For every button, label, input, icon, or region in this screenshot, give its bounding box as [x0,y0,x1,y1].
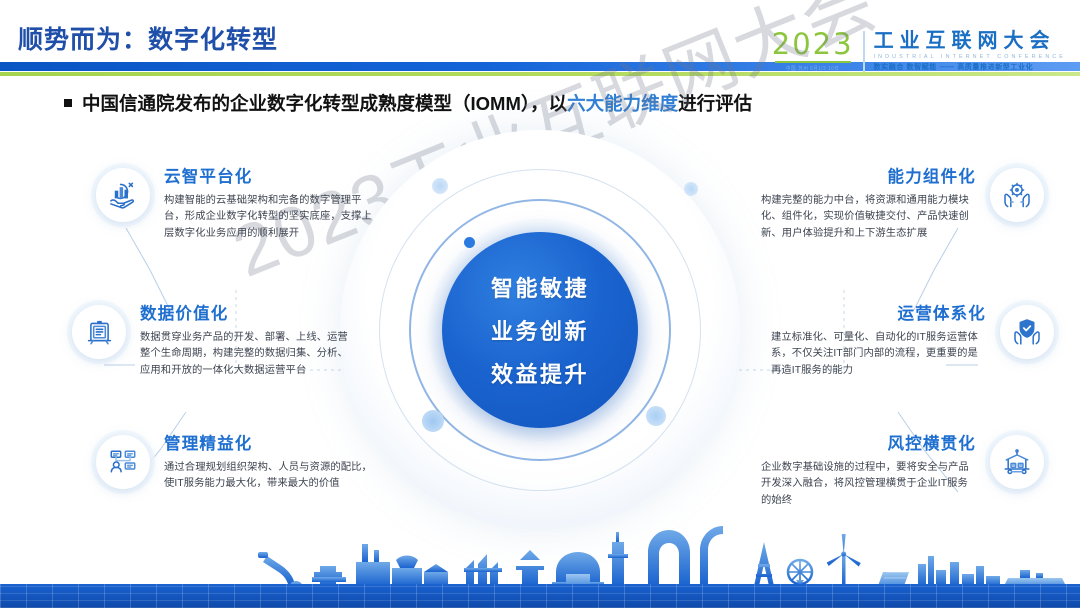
feature-description: 企业数字基础设施的过程中，要将安全与产品开发深入融合，将风控管理横贯于企业IT服… [761,460,976,510]
conference-logo: 2023 中国·苏州 8月1/2·10日 工业互联网大会 INDUSTRIAL … [772,28,1066,72]
orbit-dot-top [464,237,475,248]
bullet-text-part1: 中国信通院发布的企业数字化转型成熟度模型（IOMM），以 [82,93,567,114]
gear-in-hands-icon [990,168,1044,222]
feature-title: 数据价值化 [140,305,355,325]
cloud-chart-hand-icon [96,168,150,222]
header-rule-green [0,72,1080,76]
logo-text-block: 工业互联网大会 INDUSTRIAL INTERNET CONFERENCE 数… [874,28,1066,72]
feature-title: 管理精益化 [164,435,379,455]
feature-body: 能力组件化 构建完整的能力中台，将资源和通用能力模块化、组件化，实现价值敏捷交付… [761,168,976,243]
orbit-dot-top-left [432,178,448,194]
feature-body: 风控横贯化 企业数字基础设施的过程中，要将安全与产品开发深入融合，将风控管理横贯… [761,435,976,510]
core-line-3: 效益提升 [491,357,589,389]
core-line-1: 智能敏捷 [491,271,589,303]
diagram-stage: 2023工业互联网大会 智能敏捷 业务 [0,120,1080,540]
skyline-decoration [0,516,1080,608]
feature-title: 风控横贯化 [761,435,976,455]
feature-body: 运营体系化 建立标准化、可量化、自动化的IT服务运营体系，不仅关注IT部门内部的… [771,305,986,380]
orbit-dot-bottom-left [422,410,444,432]
logo-chinese-tagline: 数实融合 数智赋能 —— 高质量推进新型工业化 [874,62,1066,72]
logo-english-name: INDUSTRIAL INTERNET CONFERENCE [874,54,1066,60]
feature-body: 云智平台化 构建智能的云基础架构和完备的数字管理平台，形成企业数字化转型的坚实底… [164,168,379,243]
feature-body: 管理精益化 通过合理规划组织架构、人员与资源的配比，使IT服务能力最大化，带来最… [164,435,379,493]
bullet-text-part2: 进行评估 [678,93,752,114]
orbit-dot-top-right [684,182,698,196]
logo-year-underline [775,61,851,63]
bullet-text: 中国信通院发布的企业数字化转型成熟度模型（IOMM），以六大能力维度进行评估 [82,90,752,116]
logo-year-subtitle: 中国·苏州 8月1/2·10日 [772,66,854,73]
feature-title: 能力组件化 [761,168,976,188]
core-circle: 智能敏捷 业务创新 效益提升 [442,232,638,428]
logo-chinese-name: 工业互联网大会 [874,31,1066,52]
logo-year: 2023 [772,30,854,59]
floor-grid [0,584,1080,608]
feature-cloud-platform[interactable]: 云智平台化 构建智能的云基础架构和完备的数字管理平台，形成企业数字化转型的坚实底… [96,168,379,243]
secure-building-icon [990,435,1044,489]
feature-capability-componentization[interactable]: 能力组件化 构建完整的能力中台，将资源和通用能力模块化、组件化，实现价值敏捷交付… [761,168,1044,243]
feature-operations-system[interactable]: 运营体系化 建立标准化、可量化、自动化的IT服务运营体系，不仅关注IT部门内部的… [771,305,1054,380]
page-title: 顺势而为：数字化转型 [18,20,278,56]
feature-body: 数据价值化 数据贯穿业务产品的开发、部署、上线、运营整个生命周期，构建完整的数据… [140,305,355,380]
shield-in-hands-icon [1000,305,1054,359]
feature-description: 建立标准化、可量化、自动化的IT服务运营体系，不仅关注IT部门内部的流程，更重要… [771,330,986,380]
clipboard-data-icon [72,305,126,359]
feature-description: 通过合理规划组织架构、人员与资源的配比，使IT服务能力最大化，带来最大的价值 [164,460,379,493]
feature-lean-management[interactable]: 管理精益化 通过合理规划组织架构、人员与资源的配比，使IT服务能力最大化，带来最… [96,435,379,493]
feature-description: 构建完整的能力中台，将资源和通用能力模块化、组件化，实现价值敏捷交付、产品快速创… [761,193,976,243]
feature-description: 构建智能的云基础架构和完备的数字管理平台，形成企业数字化转型的坚实底座，支撑上层… [164,193,379,243]
feature-description: 数据贯穿业务产品的开发、部署、上线、运营整个生命周期，构建完整的数据归集、分析、… [140,330,355,380]
org-chart-people-icon [96,435,150,489]
feature-data-value[interactable]: 数据价值化 数据贯穿业务产品的开发、部署、上线、运营整个生命周期，构建完整的数据… [72,305,355,380]
logo-divider [863,31,865,72]
logo-year-block: 2023 中国·苏州 8月1/2·10日 [772,28,854,72]
core-line-2: 业务创新 [491,314,589,346]
bullet-marker-icon [64,99,72,107]
feature-risk-control[interactable]: 风控横贯化 企业数字基础设施的过程中，要将安全与产品开发深入融合，将风控管理横贯… [761,435,1044,510]
feature-title: 云智平台化 [164,168,379,188]
feature-title: 运营体系化 [771,305,986,325]
slide-canvas: 顺势而为：数字化转型 2023 中国·苏州 8月1/2·10日 工业互联网大会 … [0,0,1080,608]
bullet-row: 中国信通院发布的企业数字化转型成熟度模型（IOMM），以六大能力维度进行评估 [64,90,752,116]
bullet-text-highlight: 六大能力维度 [567,93,678,114]
orbit-dot-bottom-right [646,406,666,426]
